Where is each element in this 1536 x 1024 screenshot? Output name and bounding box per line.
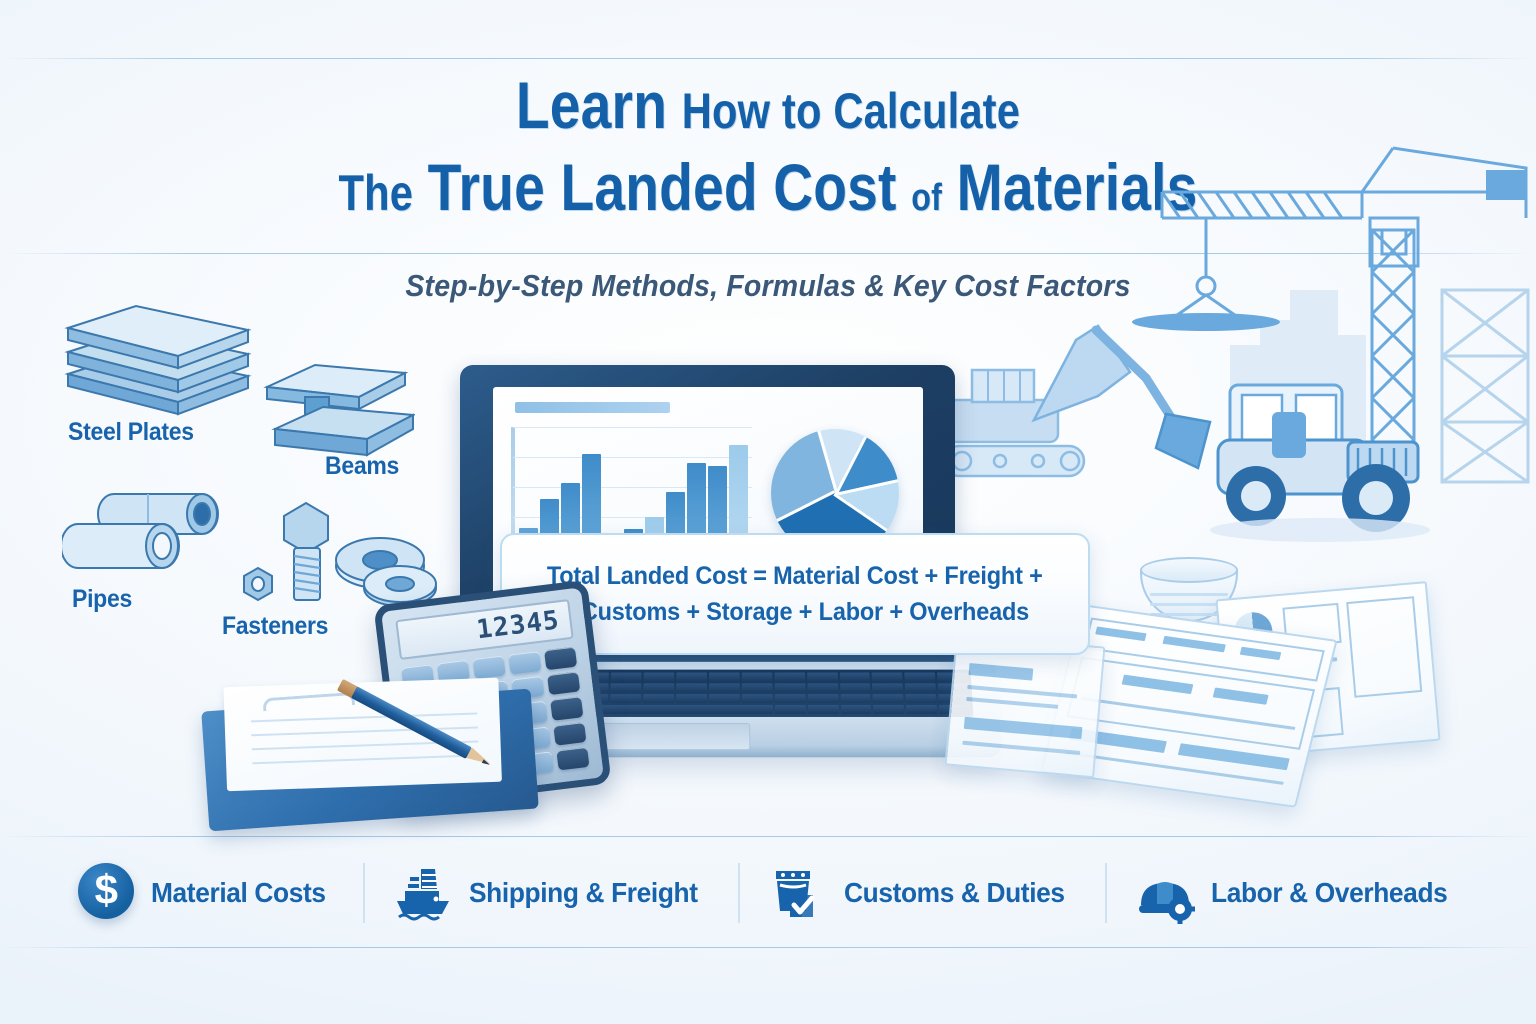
infographic-canvas: Learn How to Calculate The True Landed C… [0,0,1536,1024]
footer-item-shipping-freight[interactable]: Shipping & Freight [365,857,738,929]
divider-top [0,58,1536,59]
footer-item-customs-duties[interactable]: Customs & Duties [740,857,1105,929]
customs-stamp-icon [766,861,830,925]
material-label-fasteners: Fasteners [222,612,328,641]
pie-slice-divider [835,479,898,496]
calc-key [556,747,589,771]
pipes-icon [62,480,242,590]
calc-key [550,697,583,721]
material-label-steel-plates: Steel Plates [68,418,194,447]
crane-counterweight [1486,170,1526,200]
footer-cost-factors: $ Material Costs [0,845,1536,940]
pie-slice-divider [777,490,835,522]
excavator-icon [940,326,1210,476]
footer-label-shipping-freight: Shipping & Freight [469,877,698,909]
calc-key [508,651,541,675]
dollar-coin-icon: $ [73,861,137,925]
calc-key [473,655,506,679]
footer-label-customs-duties: Customs & Duties [844,877,1065,909]
title-word-the: The [338,165,413,221]
cargo-ship-icon [391,861,455,925]
scaffold-tower-icon [1442,290,1528,482]
calc-key [547,672,580,696]
calculator-display-value: 12345 [475,605,561,645]
formula-line-2: + Customs + Storage + Labor + Overheads [561,594,1029,630]
wheel-loader-icon [1210,385,1430,542]
screen-title-bar [515,402,670,413]
calc-key [544,647,577,671]
pie-slice-divider [833,493,888,532]
footer-item-material-costs[interactable]: $ Material Costs [47,857,363,929]
footer-label-labor-overheads: Labor & Overheads [1211,877,1447,909]
crane-load [1132,313,1280,331]
footer-item-labor-overheads[interactable]: Labor & Overheads [1107,857,1489,929]
formula-line-1: Total Landed Cost = Material Cost + Frei… [547,558,1043,594]
divider-bottom [0,947,1536,948]
footer-label-material-costs: Material Costs [151,877,326,909]
hard-hat-gear-icon [1133,861,1197,925]
steel-plates-icon [58,300,258,430]
material-label-pipes: Pipes [72,585,132,614]
pie-slice-divider [835,436,867,494]
blueprint-sheet-left [945,634,1106,779]
material-label-beams: Beams [325,452,399,481]
title-word-learn: Learn [516,69,667,142]
title-phrase-true-landed-cost: True Landed Cost [428,151,897,224]
pie-slice-divider [817,431,838,493]
calc-key [553,722,586,746]
construction-scene [930,130,1530,550]
divider-above-footer [0,836,1536,837]
